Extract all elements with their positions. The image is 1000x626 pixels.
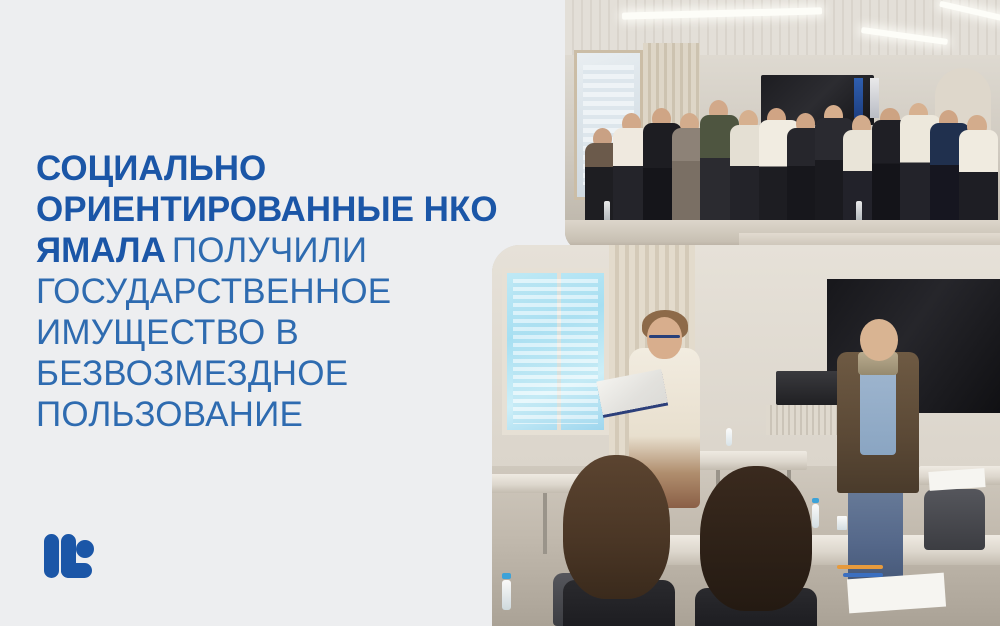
photo-classroom-presentation <box>492 245 1000 626</box>
poster-canvas: СОЦИАЛЬНО ОРИЕНТИРОВАННЫЕ НКО ЯМАЛАПОЛУЧ… <box>0 0 1000 626</box>
headline-line-5: ИМУЩЕСТВО В <box>36 312 536 353</box>
headline-line-7-light: ПОЛЬЗОВАНИЕ <box>36 395 303 434</box>
headline-line-3-light: ПОЛУЧИЛИ <box>172 231 367 270</box>
meeting-room-scene <box>565 0 1000 250</box>
flag <box>854 78 863 118</box>
headline-line-6: БЕЗВОЗМЕЗДНОЕ <box>36 353 536 394</box>
presenter-glasses <box>649 335 679 338</box>
radiator <box>766 405 847 435</box>
headline-line-1: СОЦИАЛЬНО <box>36 148 536 189</box>
headline-line-2-strong: ОРИЕНТИРОВАННЫЕ НКО <box>36 190 498 229</box>
bottle-cap <box>812 498 819 503</box>
headline-line-4: ГОСУДАРСТВЕННОЕ <box>36 271 536 312</box>
headline-line-7: ПОЛЬЗОВАНИЕ <box>36 394 536 435</box>
headline-line-6-light: БЕЗВОЗМЕЗДНОЕ <box>36 354 348 393</box>
headline-line-5-light: ИМУЩЕСТВО В <box>36 313 299 352</box>
water-bottle <box>812 504 819 528</box>
man-shirt <box>860 363 896 454</box>
equipment-rack <box>776 371 842 405</box>
chair <box>924 489 985 550</box>
headline-line-2: ОРИЕНТИРОВАННЫЕ НКО <box>36 189 536 230</box>
paper-sheet <box>847 573 946 614</box>
person <box>959 130 998 223</box>
classroom-scene <box>492 245 1000 626</box>
window <box>502 268 609 436</box>
flag <box>870 78 879 118</box>
paper-sheet <box>928 468 985 491</box>
drinking-glass <box>837 516 847 530</box>
bottle-cap <box>502 573 511 579</box>
headline-line-3: ЯМАЛАПОЛУЧИЛИ <box>36 230 536 271</box>
page-title: СОЦИАЛЬНО ОРИЕНТИРОВАННЫЕ НКО ЯМАЛАПОЛУЧ… <box>36 148 536 435</box>
student-hair <box>700 466 812 611</box>
photo-group-students <box>565 0 1000 250</box>
logo-icon <box>44 532 110 580</box>
headline-line-4-light: ГОСУДАРСТВЕННОЕ <box>36 272 391 311</box>
water-bottle <box>502 580 511 610</box>
presenter-head <box>647 317 683 359</box>
water-bottle <box>726 428 732 446</box>
desk-leg <box>543 493 547 554</box>
logo-mark[interactable] <box>44 532 110 580</box>
headline-line-3-strong: ЯМАЛА <box>36 231 166 270</box>
student-hair <box>563 455 670 600</box>
pen <box>843 573 884 577</box>
headline-line-1-strong: СОЦИАЛЬНО <box>36 149 266 188</box>
pen <box>837 565 883 569</box>
